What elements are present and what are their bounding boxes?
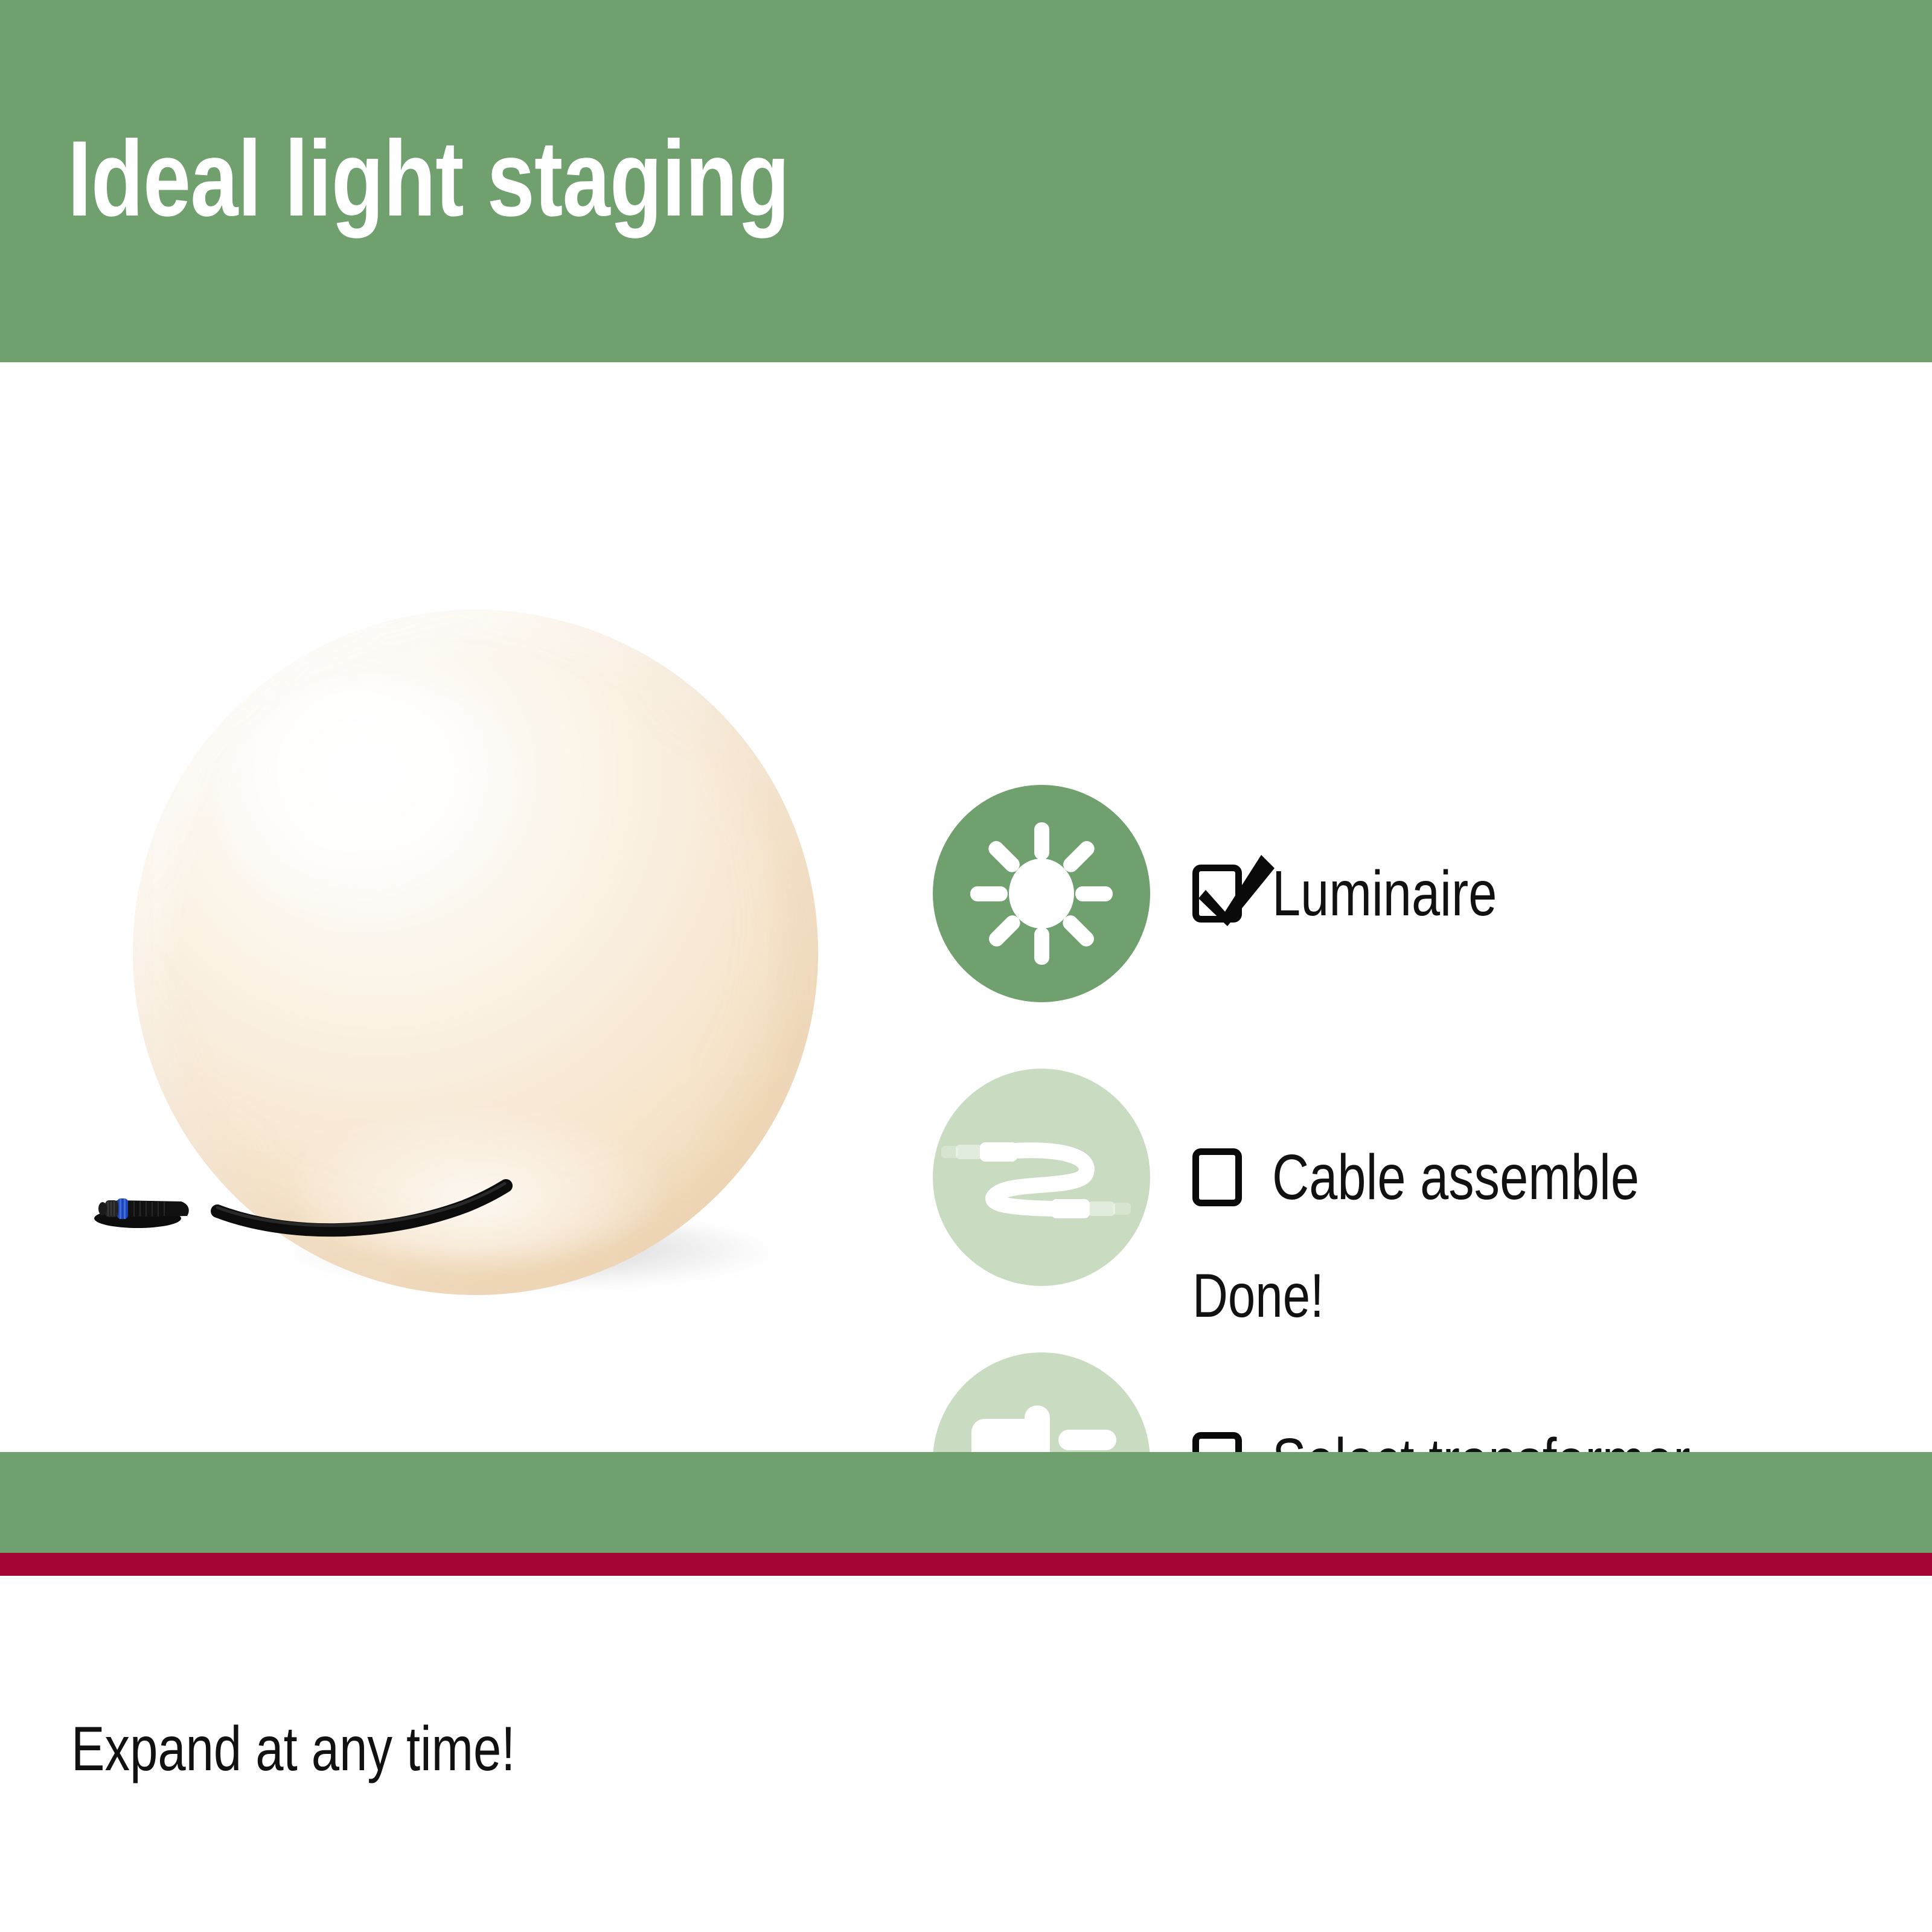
done-status-text: Done! <box>1192 1265 1324 1326</box>
checkbox-box <box>1192 1148 1242 1206</box>
checklist-label-row: Luminaire <box>1192 785 1553 1002</box>
checkbox-luminaire[interactable] <box>1192 865 1250 923</box>
lamp-specular-highlight <box>217 676 531 936</box>
page-title: Ideal light staging <box>68 118 789 239</box>
footer-green-band <box>0 1452 1932 1553</box>
main-content-area: Luminaire Cable assemble <box>0 362 1932 1452</box>
cable-icon <box>933 1069 1150 1286</box>
checklist-label-luminaire: Luminaire <box>1272 862 1497 926</box>
checklist-label-row: Cable assemble <box>1192 1069 1731 1286</box>
footer-red-accent-band <box>0 1553 1932 1576</box>
checklist-label-cable-assemble: Cable assemble <box>1272 1145 1639 1209</box>
checkbox-cable-assemble[interactable] <box>1192 1148 1250 1206</box>
sun-icon-badge <box>933 785 1150 1002</box>
checkmark-icon <box>1190 844 1281 935</box>
product-image-globe-lamp <box>91 495 875 1401</box>
checklist-item-luminaire[interactable]: Luminaire <box>933 785 1899 1002</box>
sun-icon <box>933 785 1150 1002</box>
checklist-item-cable-assemble[interactable]: Cable assemble <box>933 1069 1899 1286</box>
header-band: Ideal light staging <box>0 0 1932 362</box>
lamp-cable-connector <box>91 1183 205 1232</box>
footer-tagline: Expand at any time! <box>71 1718 515 1780</box>
cable-icon-badge <box>933 1069 1150 1286</box>
